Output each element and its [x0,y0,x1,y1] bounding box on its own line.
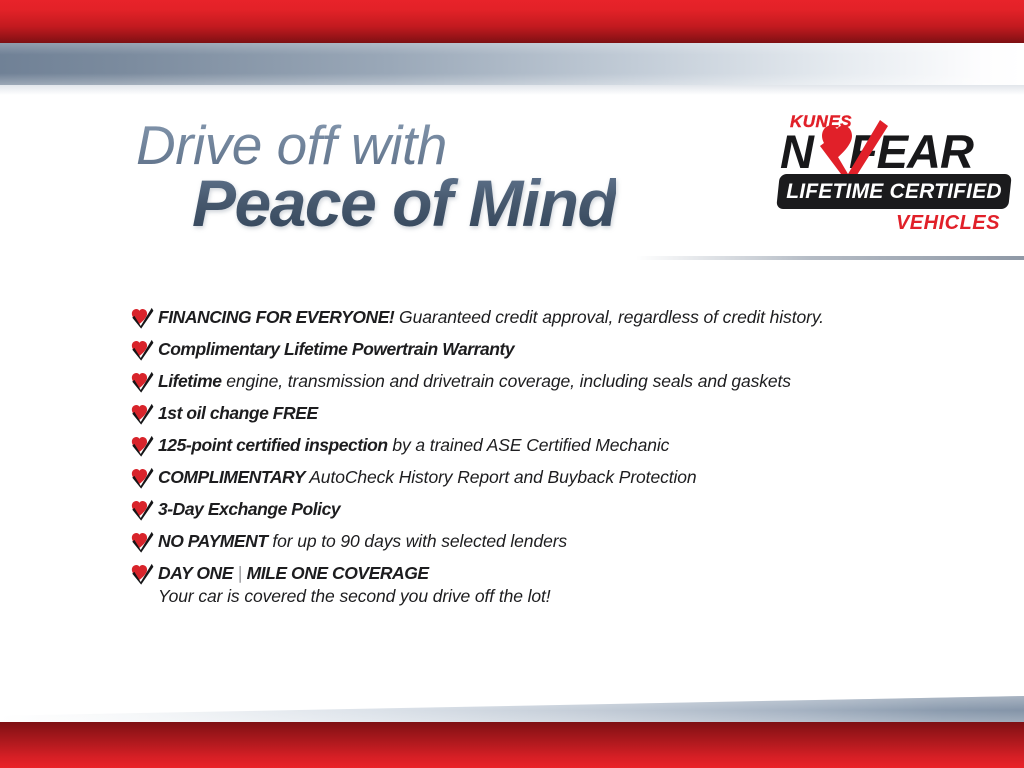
list-item-strong-2: MILE ONE COVERAGE [247,563,429,583]
heart-check-icon [130,531,154,553]
heart-check-icon [130,563,154,585]
list-item: 1st oil change FREE [130,402,970,425]
heart-check-icon [130,371,154,393]
heart-check-icon [130,435,154,457]
list-item-strong: Complimentary Lifetime Powertrain Warran… [158,339,514,359]
list-item: 3-Day Exchange Policy [130,498,970,521]
list-item: Lifetime engine, transmission and drivet… [130,370,970,393]
list-item-pipe: | [233,563,247,583]
list-item: DAY ONE | MILE ONE COVERAGE Your car is … [130,562,970,607]
logo-letter-n: N [780,125,811,178]
list-item: Complimentary Lifetime Powertrain Warran… [130,338,970,361]
list-item-strong: Lifetime [158,371,222,391]
bottom-gray-wedge-sheen [0,696,1024,722]
list-item-text: DAY ONE | MILE ONE COVERAGE Your car is … [158,562,551,607]
top-gray-band-fade [0,85,1024,95]
list-item-text: COMPLIMENTARY AutoCheck History Report a… [158,466,697,488]
list-item-text: 125-point certified inspection by a trai… [158,434,669,456]
top-gray-band-sheen [0,43,1024,85]
list-item-light: Guaranteed credit approval, regardless o… [394,307,824,327]
list-item-light: AutoCheck History Report and Buyback Pro… [305,467,696,487]
list-item-text: Lifetime engine, transmission and drivet… [158,370,791,392]
list-item: COMPLIMENTARY AutoCheck History Report a… [130,466,970,489]
top-red-band [0,0,1024,43]
list-item-strong: COMPLIMENTARY [158,467,305,487]
list-item-text: FINANCING FOR EVERYONE! Guaranteed credi… [158,306,824,328]
list-item-strong: 3-Day Exchange Policy [158,499,340,519]
list-item-strong: 1st oil change FREE [158,403,318,423]
logo-divider-line [636,256,1024,260]
list-item-light: engine, transmission and drivetrain cove… [222,371,791,391]
list-item-text: 3-Day Exchange Policy [158,498,340,520]
list-item-strong: DAY ONE [158,563,233,583]
heart-check-icon [130,467,154,489]
heart-check-icon [130,307,154,329]
heart-check-icon [130,499,154,521]
heart-check-icon [130,403,154,425]
list-item-text: NO PAYMENT for up to 90 days with select… [158,530,567,552]
list-item-heading: DAY ONE | MILE ONE COVERAGE [158,562,551,584]
logo-footer-vehicles: VEHICLES [896,212,1000,235]
list-item: FINANCING FOR EVERYONE! Guaranteed credi… [130,306,970,329]
headline: Drive off with Peace of Mind [136,118,616,238]
list-item: NO PAYMENT for up to 90 days with select… [130,530,970,553]
list-item: 125-point certified inspection by a trai… [130,434,970,457]
headline-line-2: Peace of Mind [192,169,616,238]
list-item-strong: 125-point certified inspection [158,435,388,455]
list-item-subtext: Your car is covered the second you drive… [158,586,551,607]
headline-line-1: Drive off with [136,118,616,173]
benefits-list: FINANCING FOR EVERYONE! Guaranteed credi… [130,306,970,616]
list-item-strong: FINANCING FOR EVERYONE! [158,307,394,327]
bottom-red-band [0,722,1024,768]
promo-banner: Drive off with Peace of Mind KUNES NFEAR… [0,0,1024,768]
list-item-text: 1st oil change FREE [158,402,318,424]
logo-badge-text: LIFETIME CERTIFIED [778,174,1010,209]
list-item-strong: NO PAYMENT [158,531,268,551]
list-item-text: Complimentary Lifetime Powertrain Warran… [158,338,514,360]
heart-check-icon [130,339,154,361]
list-item-light: by a trained ASE Certified Mechanic [388,435,670,455]
kunes-no-fear-logo: KUNES NFEAR LIFETIME CERTIFIED VEHICLES [778,112,1010,244]
list-item-light: for up to 90 days with selected lenders [268,531,568,551]
